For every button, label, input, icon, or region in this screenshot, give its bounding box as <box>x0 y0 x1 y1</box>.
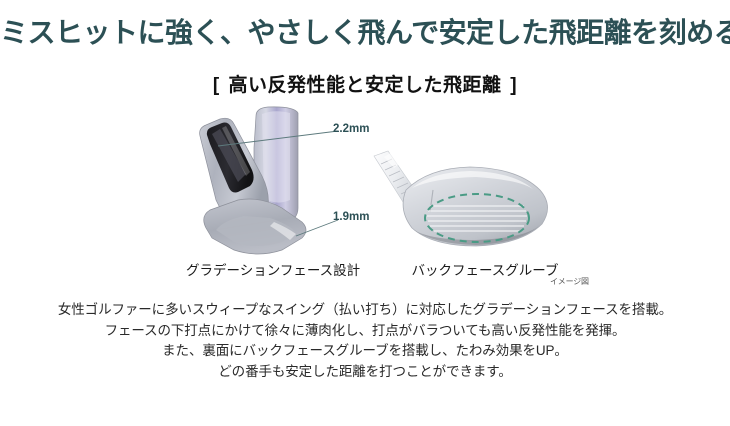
image-disclaimer-note: イメージ図 <box>550 276 589 287</box>
body-copy-line: また、裏面にバックフェースグルーブを搭載し、たわみ効果をUP。 <box>0 341 730 362</box>
caption-gradation-face: グラデーションフェース設計 <box>186 259 356 279</box>
body-copy-line: どの番手も安定した距離を打つことができます。 <box>0 362 730 383</box>
back-face-groove-illustration <box>372 150 567 265</box>
callout-thickness-bottom: 1.9mm <box>333 211 369 223</box>
subtitle-text: 高い反発性能と安定した飛距離 <box>228 75 501 96</box>
gradation-face-cross-section-illustration <box>186 104 356 264</box>
bracket-close-icon: ] <box>507 75 520 96</box>
body-copy: 女性ゴルファーに多いスウィープなスイング（払い打ち）に対応したグラデーションフェ… <box>0 300 730 382</box>
bracket-open-icon: [ <box>210 75 223 96</box>
infographic-page: ミスヒットに強く、やさしく飛んで安定した飛距離を刻める [ 高い反発性能と安定し… <box>0 0 730 426</box>
page-title: ミスヒットに強く、やさしく飛んで安定した飛距離を刻める <box>0 17 730 49</box>
callout-thickness-top: 2.2mm <box>333 123 369 135</box>
body-copy-line: 女性ゴルファーに多いスウィープなスイング（払い打ち）に対応したグラデーションフェ… <box>0 300 730 321</box>
caption-back-face-groove: バックフェースグルーブ <box>400 259 570 279</box>
subtitle: [ 高い反発性能と安定した飛距離 ] <box>0 70 730 97</box>
body-copy-line: フェースの下打点にかけて徐々に薄肉化し、打点がバラついても高い反発性能を発揮。 <box>0 321 730 342</box>
